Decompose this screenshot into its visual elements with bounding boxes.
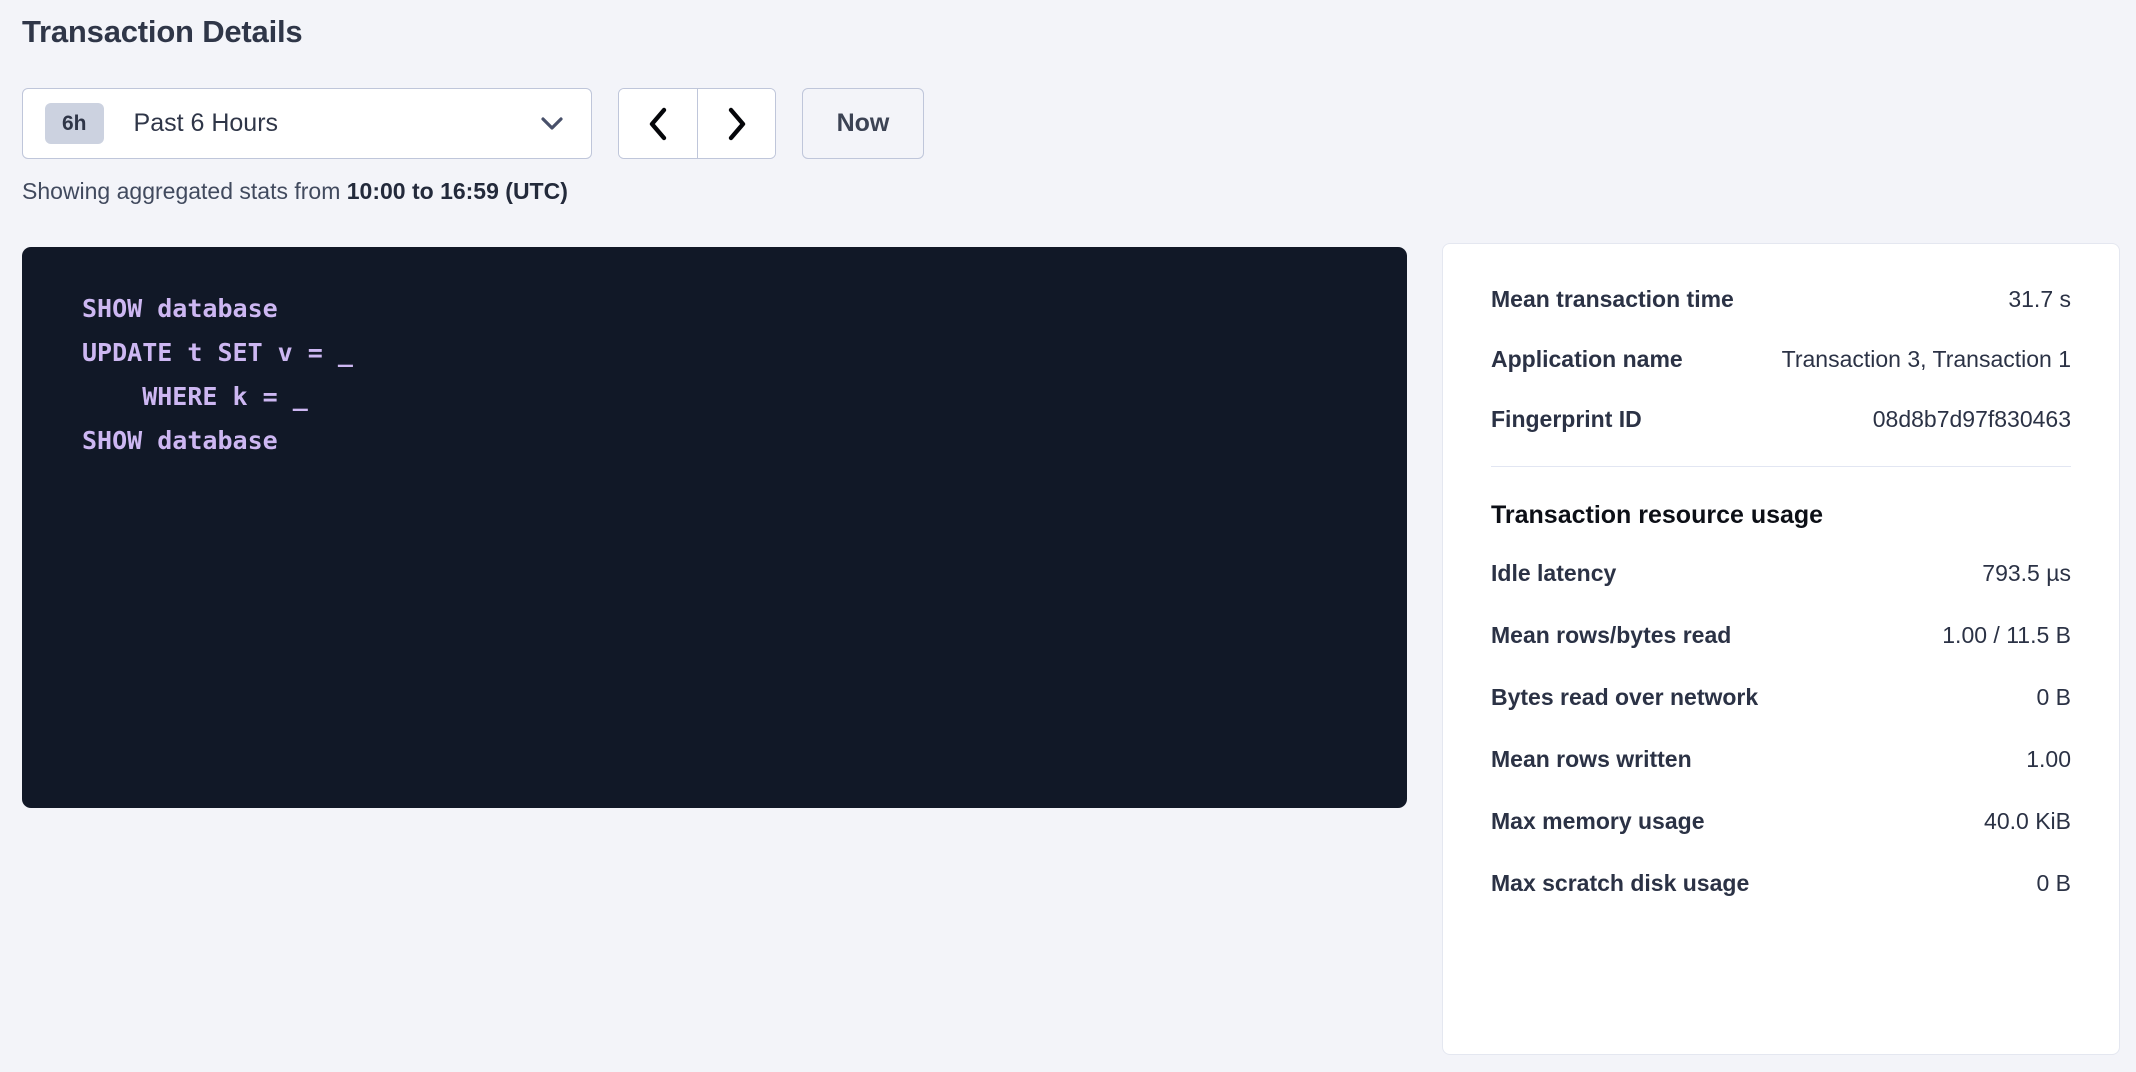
aggregation-window-text: Showing aggregated stats from 10:00 to 1… (22, 178, 568, 205)
time-range-label: Past 6 Hours (134, 109, 279, 138)
stat-value: 31.7 s (2008, 286, 2071, 313)
aggregation-window-prefix: Showing aggregated stats from (22, 178, 347, 204)
stat-value: 40.0 KiB (1984, 808, 2071, 835)
transaction-detail-card: Mean transaction time 31.7 s Application… (1442, 243, 2120, 1055)
time-range-toolbar: 6h Past 6 Hours (22, 88, 924, 159)
page-title: Transaction Details (22, 14, 302, 50)
stat-label: Mean rows/bytes read (1491, 622, 1731, 649)
stat-value: 1.00 / 11.5 B (1942, 622, 2071, 649)
stat-value: 0 B (2036, 684, 2071, 711)
chevron-down-icon (541, 113, 563, 135)
aggregation-window-range: 10:00 to 16:59 (UTC) (347, 178, 568, 204)
resource-usage-heading: Transaction resource usage (1491, 501, 2071, 530)
now-button[interactable]: Now (802, 88, 924, 159)
resource-stat-list: Idle latency 793.5 µs Mean rows/bytes re… (1491, 560, 2071, 897)
next-range-button[interactable] (697, 89, 775, 158)
stat-value: 793.5 µs (1982, 560, 2071, 587)
time-nav-group (618, 88, 776, 159)
stat-label: Bytes read over network (1491, 684, 1758, 711)
time-range-badge: 6h (45, 103, 104, 144)
stat-row: Max scratch disk usage 0 B (1491, 870, 2071, 897)
stat-label: Max memory usage (1491, 808, 1704, 835)
summary-stat-list: Mean transaction time 31.7 s Application… (1491, 286, 2071, 433)
previous-range-button[interactable] (619, 89, 697, 158)
stat-row: Mean rows written 1.00 (1491, 746, 2071, 773)
stat-value: 0 B (2036, 870, 2071, 897)
stat-label: Idle latency (1491, 560, 1616, 587)
stat-value: Transaction 3, Transaction 1 (1782, 346, 2071, 373)
stat-label: Fingerprint ID (1491, 406, 1642, 433)
stat-label: Max scratch disk usage (1491, 870, 1749, 897)
stat-row: Mean rows/bytes read 1.00 / 11.5 B (1491, 622, 2071, 649)
chevron-left-icon (647, 107, 669, 141)
time-range-select[interactable]: 6h Past 6 Hours (22, 88, 592, 159)
stat-label: Mean transaction time (1491, 286, 1734, 313)
stat-row: Mean transaction time 31.7 s (1491, 286, 2071, 313)
stat-value: 08d8b7d97f830463 (1873, 406, 2071, 433)
stat-label: Application name (1491, 346, 1683, 373)
stat-row: Bytes read over network 0 B (1491, 684, 2071, 711)
sql-code-text: SHOW database UPDATE t SET v = _ WHERE k… (82, 287, 1407, 463)
stat-label: Mean rows written (1491, 746, 1692, 773)
stat-row: Max memory usage 40.0 KiB (1491, 808, 2071, 835)
stat-row: Application name Transaction 3, Transact… (1491, 346, 2071, 373)
transaction-details-page: Transaction Details 6h Past 6 Hours (0, 0, 2136, 1072)
stat-row: Fingerprint ID 08d8b7d97f830463 (1491, 406, 2071, 433)
chevron-right-icon (726, 107, 748, 141)
section-divider (1491, 466, 2071, 467)
stat-row: Idle latency 793.5 µs (1491, 560, 2071, 587)
sql-code-panel[interactable]: SHOW database UPDATE t SET v = _ WHERE k… (22, 247, 1407, 808)
stat-value: 1.00 (2026, 746, 2071, 773)
